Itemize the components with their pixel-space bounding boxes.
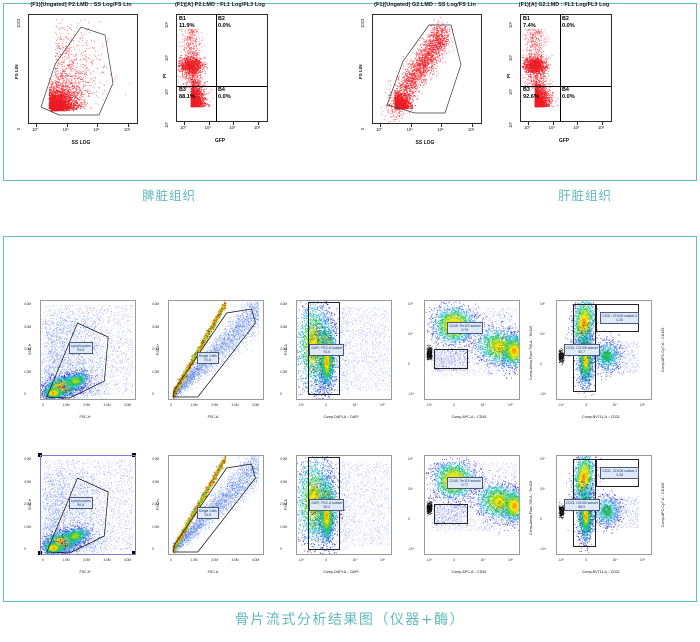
flow-y-tick: 0: [408, 362, 410, 366]
flow-y-tick: -10⁴: [540, 547, 546, 551]
gate-label: CD31, CD105 subset88.9: [564, 499, 600, 511]
flow-x-tick: 2.0M: [211, 558, 218, 562]
fcm-plot-title: (F1)[Ungated] G2.LMD : SS Log/FS Lin: [350, 2, 500, 8]
flow-y-tick: 0: [540, 362, 542, 366]
fcm-plot-4: (F1)[A] G2.LMD : FL1 Log/FL3 LogB17.4%B2…: [498, 2, 630, 150]
fcm-x-tickmark: [67, 124, 68, 127]
flow-y-tick: 0: [24, 547, 26, 551]
flow-y-tick: 4.0M: [280, 457, 287, 461]
fcm-plot-1: (F1)[Ungated] P2.LMD : SS Log/FS LinFS L…: [6, 2, 156, 152]
quadrant-name-b4: B4: [562, 87, 569, 93]
flow-x-tick: 10⁴: [613, 558, 618, 562]
fcm-x-axis-label: GFP: [154, 138, 286, 144]
fcm-x-tickmark: [602, 122, 603, 125]
fcm-x-tick: 10²: [437, 127, 443, 132]
flow-x-axis-label: Comp-BV711-A :: CD31: [538, 415, 664, 419]
gate-label-name: CD31, CD105 subset: [566, 346, 598, 350]
flow-x-tick: 0: [453, 403, 455, 407]
fcm-x-tickmark: [97, 124, 98, 127]
quadrant-divider-vertical: [560, 15, 561, 122]
flow-plot-r2-c3[interactable]: Comp-DAPI-A :: DAPIFSC-A-10⁴010⁴10⁵4.0M3…: [278, 447, 404, 579]
tissue-caption-row: 脾脏组织 肝脏组织: [0, 185, 700, 209]
fcm-x-tickmark: [528, 122, 529, 125]
flow-y-tick: 0: [280, 547, 282, 551]
fcm-x-tick: 10⁰: [376, 127, 382, 132]
quadrant-pct-b1: 11.9%: [179, 23, 195, 29]
fcm-x-tick: 10³: [124, 127, 130, 132]
flow-x-tick: 0: [453, 558, 455, 562]
flow-x-tick: 10⁴: [353, 558, 358, 562]
flow-plot-r2-c5[interactable]: Comp-BV711-A :: CD31Comp-APC-Cy7-A :: CD…: [538, 447, 664, 579]
flow-y-tick: 0: [24, 392, 26, 396]
gate-label-name: CD45, Ter119 subset: [449, 324, 481, 328]
flow-x-tick: 10⁵: [640, 558, 645, 562]
flow-y-tick: 10⁴: [408, 332, 413, 336]
flow-plot-r1-c2[interactable]: FSC-AFSC-H01.0M2.0M3.0M4.0M4.0M3.0M2.0M1…: [150, 292, 276, 424]
flow-x-tick: 2.0M: [211, 403, 218, 407]
flow-x-tick: 10⁵: [640, 403, 645, 407]
quadrant-name-b4: B4: [218, 87, 225, 93]
quadrant-pct-b4: 0.0%: [218, 94, 231, 100]
selection-handle-3[interactable]: [38, 551, 42, 555]
fcm-x-tickmark: [184, 122, 185, 125]
flow-x-axis-label: Comp-BV711-A :: CD31: [538, 570, 664, 574]
fcm-x-tick: 10¹: [205, 125, 211, 130]
flow-y-tick: 10⁴: [540, 332, 545, 336]
fcm-x-tick: 10⁰: [524, 125, 530, 130]
flow-y-tick: 2.0M: [24, 347, 31, 351]
flow-x-axis-label: FSC-H: [22, 570, 148, 574]
gate-label: Single Cells91.8: [197, 507, 219, 519]
flow-y-tick: 2.0M: [280, 347, 287, 351]
gate-label-pct: 0.77: [449, 483, 481, 487]
flow-x-tick: -10⁴: [298, 558, 304, 562]
flow-y-tick: 3.0M: [152, 480, 159, 484]
gate-label-pct: 0.25: [602, 473, 637, 477]
fcm-plot-3: (F1)[Ungated] G2.LMD : SS Log/FS LinFS L…: [350, 2, 500, 152]
quadrant-name-b3: B3: [179, 87, 186, 93]
quadrant-name-b3: B3: [523, 87, 530, 93]
fcm-y-axis-label: PI: [506, 74, 511, 78]
fcm-x-tick: 10¹: [407, 127, 413, 132]
gate-label-pct: 90.6: [71, 503, 91, 507]
fcm-y-tick: 10²: [164, 55, 169, 61]
fcm-y-tick: 10¹: [164, 89, 169, 95]
flow-x-tick: 0: [325, 558, 327, 562]
flow-x-tick: 3.0M: [232, 403, 239, 407]
flow-plot-r1-c3[interactable]: Comp-DAPI-A :: DAPIFSC-A-10⁴010⁴10⁵4.0M3…: [278, 292, 404, 424]
flow-x-tick: 10⁴: [613, 403, 618, 407]
gate-label-name: DAPI, FSC-A subset: [311, 346, 342, 350]
flow-plot-r2-c1[interactable]: FSC-HSSC-H01.0M2.0M3.0M4.0M4.0M3.0M2.0M1…: [22, 447, 148, 579]
fcm-x-tickmark: [380, 124, 381, 127]
flow-y-tick: 0: [408, 517, 410, 521]
flow-rect-gate[interactable]: [434, 504, 469, 524]
flow-plot-area: [168, 300, 264, 400]
fcm-y-tick: 0: [16, 128, 21, 130]
fcm-x-tick: 10¹: [63, 127, 69, 132]
fcm-event-cloud: [29, 15, 137, 123]
flow-x-tick: 10⁴: [481, 558, 486, 562]
fcm-x-tickmark: [411, 124, 412, 127]
quadrant-name-b2: B2: [562, 16, 569, 22]
fcm-y-tick: 10⁰: [164, 122, 169, 128]
quadrant-name-b1: B1: [179, 16, 186, 22]
fcm-y-tick: 10¹: [508, 89, 513, 95]
flow-x-tick: 0: [42, 403, 44, 407]
gate-label-pct: 87.6: [199, 358, 217, 362]
flow-y-tick: 10⁵: [408, 457, 413, 461]
flow-y-tick: 10⁵: [408, 302, 413, 306]
flow-x-tick: 3.0M: [104, 558, 111, 562]
flow-plot-r1-c4[interactable]: Comp-APC-A :: CD45Comp-Alexa Fluor 700-A…: [406, 292, 532, 424]
gate-label: DAPI, FSC-A subset93.2: [309, 499, 344, 511]
flow-y-tick: 2.0M: [152, 502, 159, 506]
flow-density-cloud: [169, 456, 264, 555]
fcm-event-cloud: [177, 15, 267, 121]
fcm-x-tick: 10²: [229, 125, 235, 130]
gate-label-pct: 88.9: [566, 505, 598, 509]
gate-label: CD31, CD105 subset92.7: [564, 344, 600, 356]
caption-liver: 肝脏组织: [558, 185, 612, 204]
fcm-y-tick: 1023: [16, 19, 21, 28]
gate-label: CD31, CD105 subset-10.25: [600, 467, 639, 479]
gate-label-pct: 91.6: [311, 350, 342, 354]
flow-x-tick: 0: [585, 558, 587, 562]
fcm-plot-area: B111.9%B20.0%B388.1%B40.0%: [176, 14, 268, 122]
flow-x-tick: 0: [170, 403, 172, 407]
flow-x-tick: 2.0M: [83, 558, 90, 562]
gate-label-name: Lymphocytes: [71, 344, 91, 348]
gate-label-name: Lymphocytes: [71, 499, 91, 503]
flow-y-tick: 0: [152, 392, 154, 396]
flow-y-tick: 0: [280, 392, 282, 396]
flow-x-tick: 3.0M: [232, 558, 239, 562]
fcm-x-tickmark: [233, 122, 234, 125]
flow-x-tick: 4.0M: [124, 403, 131, 407]
flow-y-axis-label: Comp-APC-Cy7-A :: CD105: [661, 328, 665, 372]
fcm-plot-2: (F1)[A] P2.LMD : FL1 Log/FL3 LogB111.9%B…: [154, 2, 286, 150]
fcm-x-tickmark: [209, 122, 210, 125]
quadrant-pct-b2: 0.0%: [218, 23, 231, 29]
fcm-plot-title: (F1)[A] P2.LMD : FL1 Log/FL3 Log: [154, 2, 286, 8]
flow-y-tick: 1.0M: [24, 525, 31, 529]
quadrant-name-b1: B1: [523, 16, 530, 22]
quadrant-pct-b4: 0.0%: [562, 94, 575, 100]
flow-x-tick: 0: [170, 558, 172, 562]
flow-x-tick: 10⁵: [508, 558, 513, 562]
gate-label-name: CD31, CD105 subset-1: [602, 469, 637, 473]
fcm-x-tickmark: [472, 124, 473, 127]
gate-label-pct: 93.8: [71, 348, 91, 352]
selection-handle-2[interactable]: [132, 453, 136, 457]
flow-x-tick: 2.0M: [83, 403, 90, 407]
flow-y-tick: 4.0M: [24, 457, 31, 461]
flow-y-tick: 4.0M: [152, 457, 159, 461]
gate-label-name: CD31, CD105 subset: [566, 501, 598, 505]
flow-x-tick: 10⁵: [508, 403, 513, 407]
flow-y-tick: 3.0M: [24, 480, 31, 484]
fcm-y-axis-label: FS LIN: [358, 64, 363, 79]
fcm-x-tick: 10³: [598, 125, 604, 130]
caption-bone-flow: 骨片流式分析结果图（仪器+酶）: [0, 609, 700, 629]
fcm-x-tick: 10²: [93, 127, 99, 132]
flow-x-tick: 0: [585, 403, 587, 407]
flow-x-tick: 10⁴: [353, 403, 358, 407]
flow-plot-r1-c5[interactable]: Comp-BV711-A :: CD31Comp-APC-Cy7-A :: CD…: [538, 292, 664, 424]
quadrant-pct-b1: 7.4%: [523, 23, 536, 29]
flow-x-tick: 1.0M: [191, 403, 198, 407]
flow-x-tick: 4.0M: [252, 558, 259, 562]
flow-y-tick: 3.0M: [24, 325, 31, 329]
flow-x-tick: 1.0M: [63, 403, 70, 407]
flow-x-tick: 1.0M: [63, 558, 70, 562]
flow-rect-gate[interactable]: [434, 349, 469, 369]
fcm-x-tickmark: [553, 122, 554, 125]
flow-x-tick: 4.0M: [252, 403, 259, 407]
quadrant-name-b2: B2: [218, 16, 225, 22]
fcm-y-tick: 10³: [164, 22, 169, 28]
selection-handle-4[interactable]: [132, 551, 136, 555]
fcm-y-axis-label: FS LIN: [14, 64, 19, 79]
flow-plot-r2-c2[interactable]: FSC-AFSC-H01.0M2.0M3.0M4.0M4.0M3.0M2.0M1…: [150, 447, 276, 579]
flow-y-tick: 3.0M: [152, 325, 159, 329]
flow-y-tick: 2.0M: [152, 347, 159, 351]
flow-y-tick: -10⁴: [408, 547, 414, 551]
gate-label-name: DAPI, FSC-A subset: [311, 501, 342, 505]
gate-label: CD45, Ter119 subset0.77: [447, 477, 483, 489]
fcm-x-tick: 10³: [468, 127, 474, 132]
flow-density-cloud: [169, 301, 264, 400]
flow-y-tick: -10⁴: [540, 392, 546, 396]
flow-plot-r1-c1[interactable]: FSC-HSSC-H01.0M2.0M3.0M4.0M4.0M3.0M2.0M1…: [22, 292, 148, 424]
flow-x-tick: 4.0M: [124, 558, 131, 562]
flow-x-axis-label: Comp-APC-A :: CD45: [406, 570, 532, 574]
flow-x-axis-label: FSC-A: [150, 415, 276, 419]
fcm-plot-area: [28, 14, 138, 124]
flow-x-axis-label: FSC-A: [150, 570, 276, 574]
fcm-y-tick: 0: [360, 128, 365, 130]
flow-x-tick: -10⁴: [558, 558, 564, 562]
flow-x-tick: 3.0M: [104, 403, 111, 407]
flow-y-tick: 1.0M: [24, 370, 31, 374]
quadrant-divider-vertical: [216, 15, 217, 122]
flow-y-tick: 10⁵: [540, 302, 545, 306]
fcm-x-tick: 10³: [254, 125, 260, 130]
gate-label-name: Single Cells: [199, 509, 217, 513]
flow-x-axis-label: Comp-DAPI-A :: DAPI: [278, 570, 404, 574]
gate-label-name: CD31, CD105 subset-1: [602, 314, 637, 318]
flow-y-axis-label: Comp-APC-Cy7-A :: CD105: [661, 483, 665, 527]
flow-x-axis-label: FSC-H: [22, 415, 148, 419]
flow-y-tick: 1.0M: [152, 525, 159, 529]
fcm-x-axis-label: GFP: [498, 138, 630, 144]
flow-y-tick: 4.0M: [280, 302, 287, 306]
flow-y-tick: 1.0M: [280, 525, 287, 529]
gate-label: CD45, Ter119 subset0.74: [447, 322, 483, 334]
flow-y-axis-label: Comp-Alexa Fluor 700-A :: Ter119: [529, 481, 533, 535]
flow-y-tick: 4.0M: [152, 302, 159, 306]
fcm-x-tick: 10⁰: [32, 127, 38, 132]
fcm-plot-area: [372, 14, 482, 124]
flow-x-tick: -10⁴: [298, 403, 304, 407]
flow-y-tick: 10⁴: [408, 487, 413, 491]
flow-x-tick: 1.0M: [191, 558, 198, 562]
selection-handle-1[interactable]: [38, 453, 42, 457]
gate-label-pct: 93.2: [311, 505, 342, 509]
flow-y-axis-label: Comp-Alexa Fluor 700-A :: Ter119: [529, 326, 533, 380]
flow-y-tick: 2.0M: [24, 502, 31, 506]
flow-y-tick: 1.0M: [152, 370, 159, 374]
fcm-y-tick: 10²: [508, 55, 513, 61]
flow-y-tick: 4.0M: [24, 302, 31, 306]
flow-x-axis-label: Comp-DAPI-A :: DAPI: [278, 415, 404, 419]
fcm-x-tick: 10⁰: [180, 125, 186, 130]
fcm-x-axis-label: SS LOG: [6, 140, 156, 146]
fcm-x-tickmark: [128, 124, 129, 127]
fcm-x-tick: 10¹: [549, 125, 555, 130]
gate-label-pct: 0.74: [449, 328, 481, 332]
quadrant-pct-b3: 88.1%: [179, 94, 195, 100]
fcm-event-cloud: [521, 15, 611, 121]
flow-y-tick: -10⁴: [408, 392, 414, 396]
fcm-x-axis-label: SS LOG: [350, 140, 500, 146]
quadrant-pct-b2: 0.0%: [562, 23, 575, 29]
flow-y-tick: 1.0M: [280, 370, 287, 374]
gate-label-pct: 92.7: [566, 350, 598, 354]
flow-x-axis-label: Comp-APC-A :: CD45: [406, 415, 532, 419]
gate-label: Lymphocytes90.6: [69, 497, 93, 509]
caption-spleen: 脾脏组织: [142, 185, 196, 204]
fcm-event-cloud: [373, 15, 481, 123]
flow-x-tick: 0: [42, 558, 44, 562]
fcm-plot-title: (F1)[Ungated] P2.LMD : SS Log/FS Lin: [6, 2, 156, 8]
fcm-x-tickmark: [258, 122, 259, 125]
flow-x-tick: -10⁴: [558, 403, 564, 407]
fcm-y-tick: 10³: [508, 22, 513, 28]
flow-y-tick: 2.0M: [280, 502, 287, 506]
fcm-y-tick: 10⁰: [508, 122, 513, 128]
flow-plot-area: [168, 455, 264, 555]
gate-label-name: CD45, Ter119 subset: [449, 479, 481, 483]
gate-label: Single Cells87.6: [197, 352, 219, 364]
flow-y-tick: 0: [152, 547, 154, 551]
flow-y-tick: 3.0M: [280, 480, 287, 484]
gate-label-pct: 0.20: [602, 318, 637, 322]
flow-x-tick: 10⁵: [380, 403, 385, 407]
gate-label: CD31, CD105 subset-10.20: [600, 312, 639, 324]
gate-label-name: Single Cells: [199, 354, 217, 358]
flow-x-tick: 10⁴: [481, 403, 486, 407]
gate-label-pct: 91.8: [199, 513, 217, 517]
flow-x-tick: -10⁴: [426, 558, 432, 562]
flow-x-tick: 0: [325, 403, 327, 407]
flow-y-tick: 10⁴: [540, 487, 545, 491]
flow-x-tick: 10⁵: [380, 558, 385, 562]
gate-label: Lymphocytes93.8: [69, 342, 93, 354]
flow-y-tick: 3.0M: [280, 325, 287, 329]
fcm-x-tickmark: [36, 124, 37, 127]
fcm-x-tickmark: [441, 124, 442, 127]
fcm-y-axis-label: PI: [162, 74, 167, 78]
flow-y-tick: 10⁵: [540, 457, 545, 461]
fcm-plot-area: B17.4%B20.0%B392.6%B40.0%: [520, 14, 612, 122]
quadrant-pct-b3: 92.6%: [523, 94, 539, 100]
flow-y-tick: 0: [540, 517, 542, 521]
fcm-plot-title: (F1)[A] G2.LMD : FL1 Log/FL3 Log: [498, 2, 630, 8]
gate-label: DAPI, FSC-A subset91.6: [309, 344, 344, 356]
fcm-y-tick: 1023: [360, 19, 365, 28]
fcm-x-tickmark: [577, 122, 578, 125]
flow-x-tick: -10⁴: [426, 403, 432, 407]
flow-plot-r2-c4[interactable]: Comp-APC-A :: CD45Comp-Alexa Fluor 700-A…: [406, 447, 532, 579]
fcm-x-tick: 10²: [573, 125, 579, 130]
